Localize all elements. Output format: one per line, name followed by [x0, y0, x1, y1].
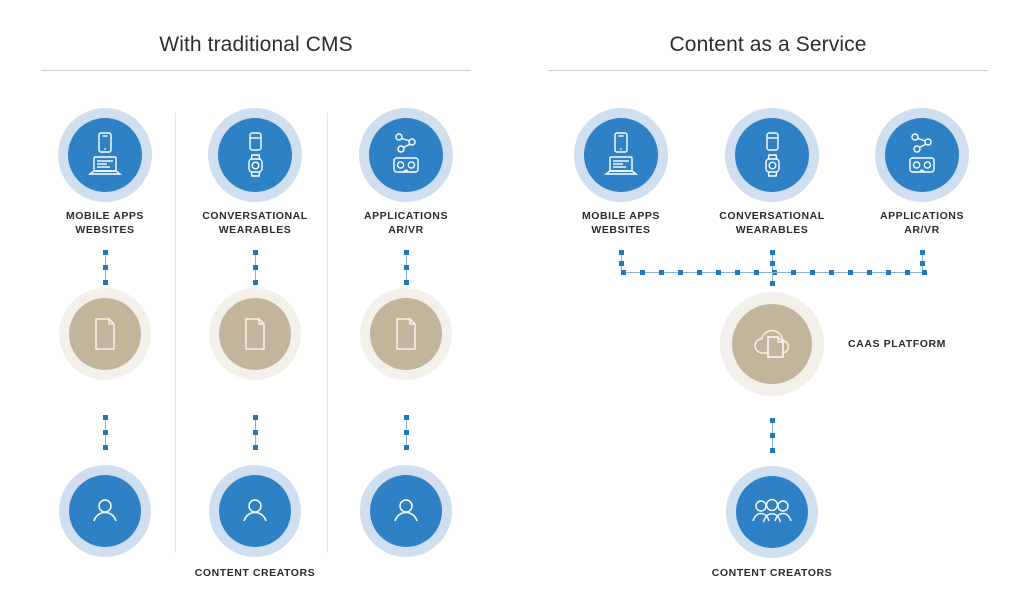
panel-title-traditional: With traditional CMS	[0, 33, 512, 57]
content-node-document-1[interactable]	[59, 288, 151, 380]
document-icon	[240, 316, 270, 352]
connector-channel-to-doc-1	[105, 250, 106, 284]
panel-traditional-cms: With traditional CMS MOBILE APPS WEBSITE…	[0, 0, 512, 604]
connector-doc-to-creator-1	[105, 415, 106, 449]
caas-platform-label: CAAS PLATFORM	[848, 338, 946, 350]
connector-dot	[829, 270, 834, 275]
column-separator-1	[175, 113, 176, 553]
share-vr-goggles-icon	[386, 131, 426, 179]
document-icon	[90, 316, 120, 352]
creators-icon-wrap	[736, 476, 808, 548]
connector-dot	[659, 270, 664, 275]
connector-dot	[404, 415, 409, 420]
panel-title-caas: Content as a Service	[512, 33, 1024, 57]
single-person-icon	[88, 494, 122, 528]
connector-dot	[867, 270, 872, 275]
document-icon-wrap	[219, 298, 291, 370]
caas-platform-to-creators	[772, 418, 773, 452]
channel-icon-wrap	[218, 118, 292, 192]
connector-dot	[253, 265, 258, 270]
channel-label-mobile-apps-websites: MOBILE APPS WEBSITES	[30, 209, 180, 237]
document-icon-wrap	[69, 298, 141, 370]
connector-dot	[770, 250, 775, 255]
connector-dot	[905, 270, 910, 275]
creator-icon-wrap	[69, 475, 141, 547]
connector-dot	[253, 445, 258, 450]
connector-dot	[103, 280, 108, 285]
caas-channel-label-mobile-apps-websites: MOBILE APPS WEBSITES	[546, 209, 696, 237]
connector-dot	[103, 445, 108, 450]
channel-label-applications-arvr: APPLICATIONS AR/VR	[331, 209, 481, 237]
channel-label-conversational-wearables: CONVERSATIONAL WEARABLES	[180, 209, 330, 237]
creators-label-traditional: CONTENT CREATORS	[180, 566, 330, 580]
channel-icon-wrap	[584, 118, 658, 192]
connector-dot	[922, 270, 927, 275]
creator-node-2[interactable]	[209, 465, 301, 557]
connector-dot	[770, 418, 775, 423]
platform-icon-wrap	[732, 304, 812, 384]
connector-dot	[810, 270, 815, 275]
connector-dot	[920, 261, 925, 266]
connector-dot	[770, 448, 775, 453]
channel-icon-wrap	[735, 118, 809, 192]
connector-channel-to-doc-3	[406, 250, 407, 284]
caas-bus-left	[621, 272, 772, 273]
caas-channel-node-mobile-apps-websites[interactable]	[574, 108, 668, 202]
creator-node-1[interactable]	[59, 465, 151, 557]
caas-channel-label-applications-arvr: APPLICATIONS AR/VR	[847, 209, 997, 237]
phone-laptop-icon	[85, 131, 125, 179]
connector-dot	[253, 415, 258, 420]
connector-dot	[253, 250, 258, 255]
creator-icon-wrap	[219, 475, 291, 547]
connector-dot	[103, 265, 108, 270]
single-person-icon	[389, 494, 423, 528]
content-node-document-2[interactable]	[209, 288, 301, 380]
channel-node-mobile-apps-websites[interactable]	[58, 108, 152, 202]
connector-dot	[678, 270, 683, 275]
cloud-document-icon	[750, 325, 794, 363]
document-icon	[391, 316, 421, 352]
connector-dot	[770, 281, 775, 286]
connector-dot	[103, 415, 108, 420]
caas-creators-node[interactable]	[726, 466, 818, 558]
connector-dot	[716, 270, 721, 275]
connector-dot	[791, 270, 796, 275]
channel-icon-wrap	[885, 118, 959, 192]
connector-dot	[697, 270, 702, 275]
column-separator-2	[327, 113, 328, 553]
connector-dot	[404, 280, 409, 285]
title-divider-traditional	[41, 70, 471, 71]
caas-channel-node-conversational-wearables[interactable]	[725, 108, 819, 202]
connector-dot	[253, 430, 258, 435]
phone-laptop-icon	[601, 131, 641, 179]
connector-dot	[103, 250, 108, 255]
panel-content-as-a-service: Content as a Service MOBILE APPS WEBSITE…	[512, 0, 1024, 604]
group-people-icon	[751, 497, 793, 527]
caas-channel-label-conversational-wearables: CONVERSATIONAL WEARABLES	[697, 209, 847, 237]
connector-dot	[754, 270, 759, 275]
connector-dot	[404, 445, 409, 450]
creator-node-3[interactable]	[360, 465, 452, 557]
channel-icon-wrap	[68, 118, 142, 192]
connector-dot	[621, 270, 626, 275]
connector-dot	[619, 250, 624, 255]
caas-bus-right	[772, 272, 922, 273]
connector-dot	[640, 270, 645, 275]
connector-dot	[404, 430, 409, 435]
title-divider-caas	[548, 70, 988, 71]
connector-dot	[735, 270, 740, 275]
caas-creators-label: CONTENT CREATORS	[697, 566, 847, 580]
connector-doc-to-creator-2	[255, 415, 256, 449]
content-node-document-3[interactable]	[360, 288, 452, 380]
connector-dot	[103, 430, 108, 435]
connector-dot	[404, 250, 409, 255]
channel-node-applications-arvr[interactable]	[359, 108, 453, 202]
speaker-watch-icon	[238, 131, 272, 179]
connector-dot	[770, 433, 775, 438]
caas-platform-node[interactable]	[720, 292, 824, 396]
creator-icon-wrap	[370, 475, 442, 547]
caas-channel-node-applications-arvr[interactable]	[875, 108, 969, 202]
connector-dot	[886, 270, 891, 275]
single-person-icon	[238, 494, 272, 528]
connector-dot	[404, 265, 409, 270]
caas-drop-line-2	[772, 250, 773, 272]
caas-bus-to-platform	[772, 272, 773, 286]
speaker-watch-icon	[755, 131, 789, 179]
share-vr-goggles-icon	[902, 131, 942, 179]
channel-node-conversational-wearables[interactable]	[208, 108, 302, 202]
connector-dot	[770, 261, 775, 266]
document-icon-wrap	[370, 298, 442, 370]
caas-drop-line-3	[922, 250, 923, 272]
connector-dot	[920, 250, 925, 255]
connector-channel-to-doc-2	[255, 250, 256, 284]
connector-doc-to-creator-3	[406, 415, 407, 449]
connector-dot	[619, 261, 624, 266]
channel-icon-wrap	[369, 118, 443, 192]
caas-drop-line-1	[621, 250, 622, 272]
connector-dot	[253, 280, 258, 285]
connector-dot	[848, 270, 853, 275]
